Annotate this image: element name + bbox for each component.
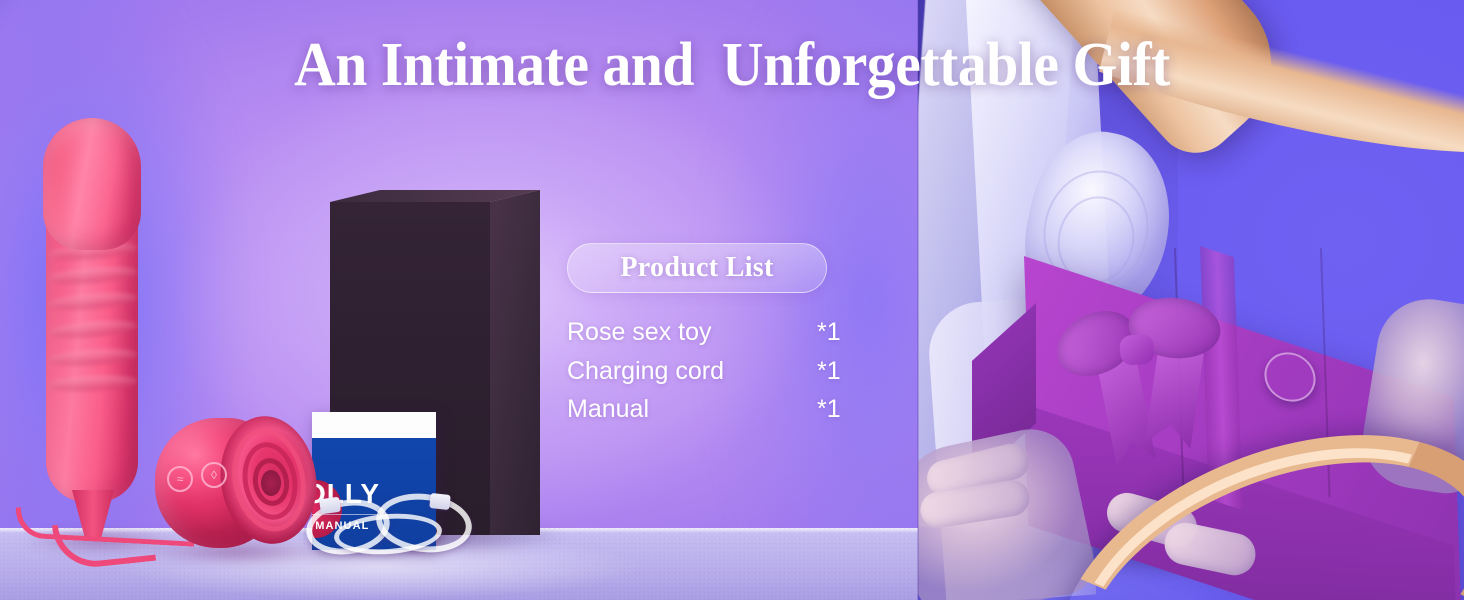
rose-toy-mode-button: ≈ — [167, 466, 193, 492]
black-box-side-face — [490, 190, 540, 535]
usb-charging-cable — [300, 492, 490, 562]
cable-connector — [429, 493, 450, 510]
list-item: Manual *1 — [567, 390, 887, 429]
product-list-rows: Rose sex toy *1 Charging cord *1 Manual … — [567, 313, 887, 429]
banner-title: An Intimate and Unforgettable Gift — [51, 34, 1413, 96]
power-button-glyph: ◊ — [211, 469, 217, 481]
product-list-badge-label: Product List — [620, 252, 773, 284]
list-item-name: Rose sex toy — [567, 313, 817, 352]
manual-top-strip — [312, 412, 436, 438]
product-list-block: Product List Rose sex toy *1 Charging co… — [567, 243, 887, 429]
list-item-name: Charging cord — [567, 352, 817, 391]
list-item-name: Manual — [567, 390, 817, 429]
mode-button-glyph: ≈ — [177, 473, 184, 485]
product-list-badge: Product List — [567, 243, 827, 293]
rose-suction-core — [261, 470, 281, 496]
product-banner: OLLY R MANUAL ≈ ◊ — [0, 0, 1464, 600]
rose-toy-power-button: ◊ — [201, 462, 227, 488]
cable-connector — [319, 497, 341, 515]
bow-tail — [1145, 347, 1204, 448]
list-item: Rose sex toy *1 — [567, 313, 887, 352]
shaft-head — [43, 118, 141, 250]
ribbon-bow — [1052, 288, 1243, 470]
list-item-qty: *1 — [817, 390, 877, 429]
list-item-qty: *1 — [817, 313, 877, 352]
bow-knot — [1119, 334, 1155, 366]
rose-suction-toy: ≈ ◊ — [155, 408, 315, 558]
pink-shaft-vibrator — [38, 118, 150, 543]
list-item: Charging cord *1 — [567, 352, 887, 391]
list-item-qty: *1 — [817, 352, 877, 391]
